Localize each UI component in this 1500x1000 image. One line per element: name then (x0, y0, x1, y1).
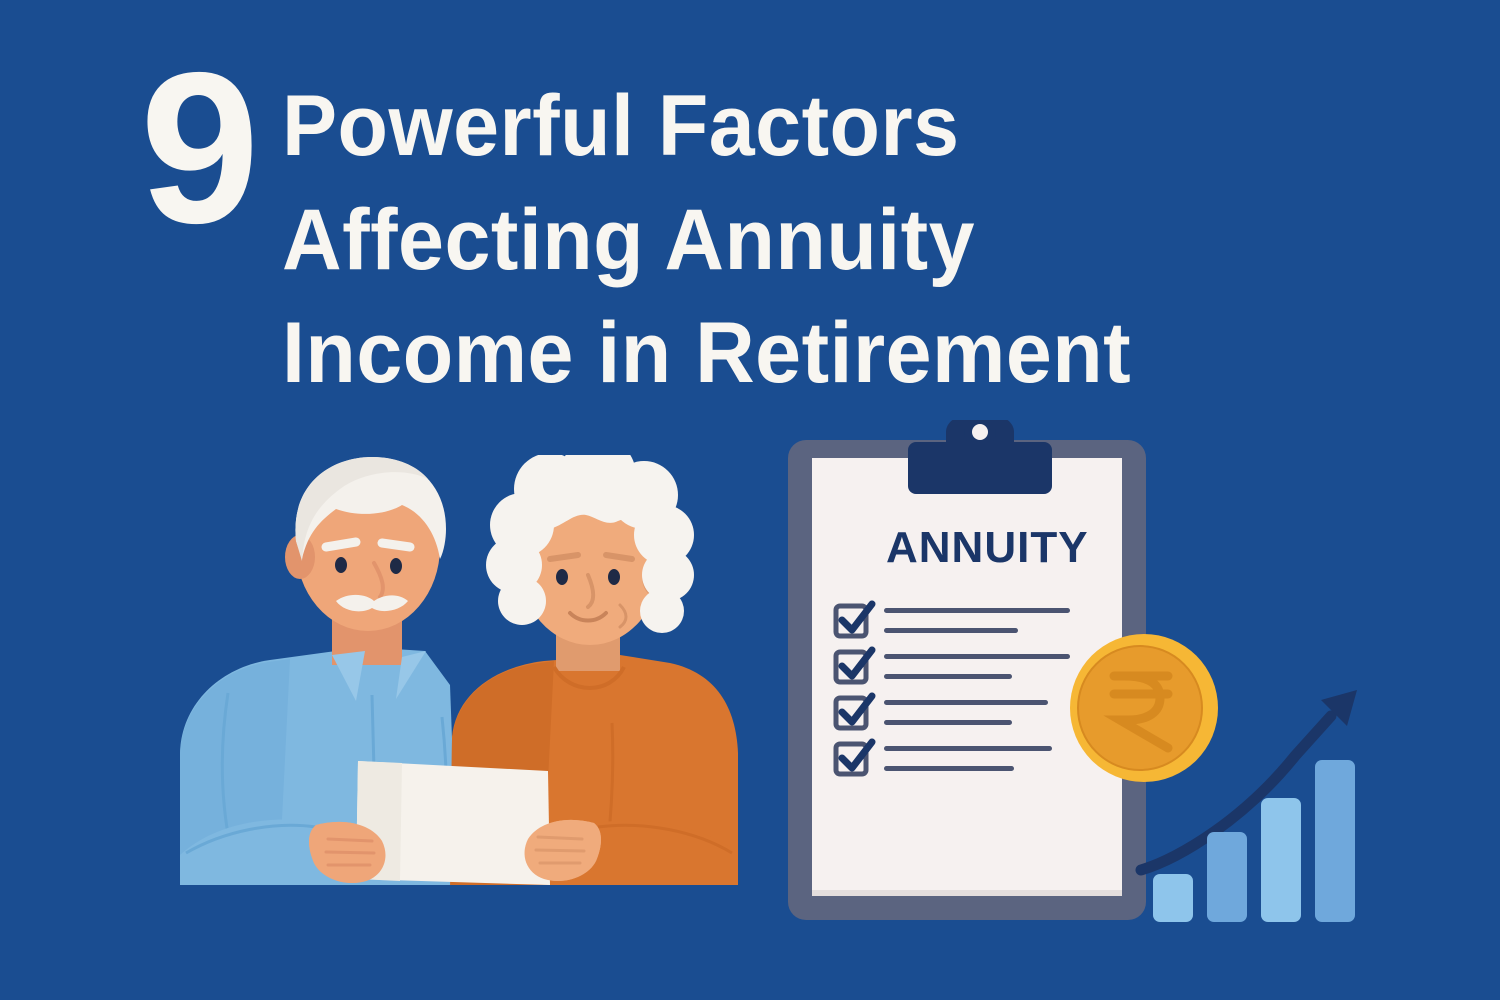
man-eye-right (390, 558, 402, 574)
headline-number: 9 (140, 56, 256, 241)
bar-3 (1261, 798, 1301, 922)
checklist-line-short (884, 766, 1014, 771)
checklist-line-short (884, 628, 1018, 633)
checklist-line-short (884, 720, 1012, 725)
woman-finger-f1 (538, 837, 582, 839)
man-eyebrow-left (326, 542, 356, 547)
woman-eye-left (556, 569, 568, 585)
headline-line-3: Income in Retirement (282, 297, 1131, 411)
headline-line-1: Powerful Factors (282, 70, 1131, 184)
table-edge (150, 885, 770, 900)
checklist-line-long (884, 700, 1048, 705)
woman-eyebrow-left (550, 555, 578, 559)
checklist-line-short (884, 674, 1012, 679)
man-finger-f1 (328, 839, 372, 841)
bar-4 (1315, 760, 1355, 922)
woman-eyebrow-right (606, 555, 632, 559)
clipboard-paper-shadow (812, 890, 1122, 896)
man-finger-f2 (326, 852, 374, 853)
woman-finger-f2 (536, 850, 584, 851)
page-title: 9 Powerful Factors Affecting Annuity Inc… (140, 62, 1340, 411)
clipboard-title: ANNUITY (886, 523, 1089, 572)
checklist-line-long (884, 746, 1052, 751)
headline-line-2: Affecting Annuity (282, 184, 1131, 298)
paper-document (356, 761, 550, 885)
checklist-line-long (884, 654, 1070, 659)
man-eye-left (335, 557, 347, 573)
rupee-coin-icon (1068, 632, 1220, 784)
poster-canvas: 9 Powerful Factors Affecting Annuity Inc… (0, 0, 1500, 1000)
man-eyebrow-right (382, 543, 410, 547)
bars (1153, 760, 1355, 922)
elderly-couple-illustration (150, 455, 770, 900)
checklist-line-long (884, 608, 1070, 613)
woman-eye-right (608, 569, 620, 585)
clipboard-clip (908, 420, 1052, 494)
bar-1 (1153, 874, 1193, 922)
bar-2 (1207, 832, 1247, 922)
